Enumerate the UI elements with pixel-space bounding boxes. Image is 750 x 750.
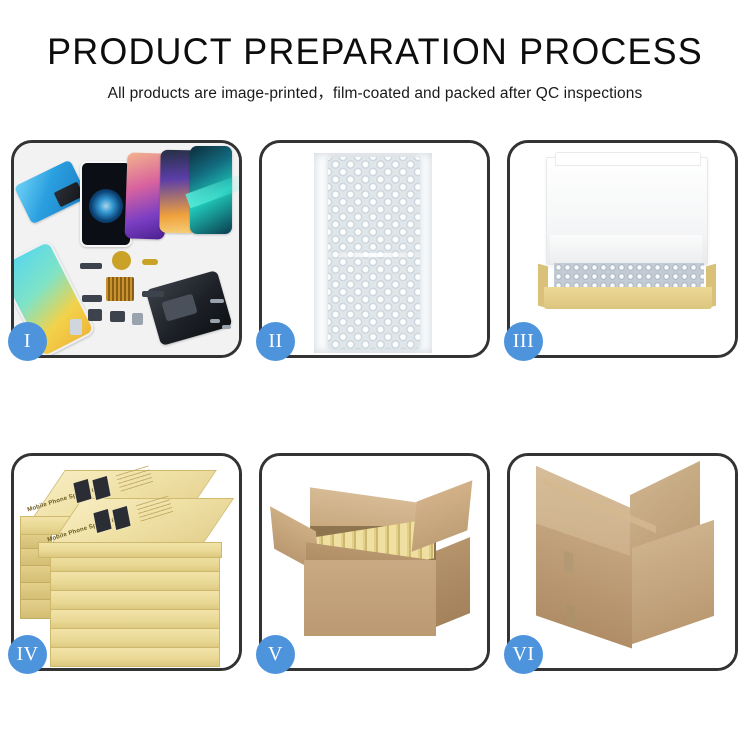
phone-screen-black-icon [80,161,132,247]
process-step-6[interactable]: VI [507,453,738,671]
step-3-image [510,143,735,355]
page-header: PRODUCT PREPARATION PROCESS All products… [0,0,750,105]
step-5-image [262,456,487,668]
step-2-image [262,143,487,355]
retail-box-face [38,542,222,558]
retail-box-edge [20,599,52,619]
step-5-badge: V [256,635,295,674]
tray-front-face [544,287,712,309]
step-2-badge: II [256,322,295,361]
retail-box-face [50,628,220,649]
step-4-badge: IV [8,635,47,674]
stacked-boxes-scene: Mobile Phone Spare Parts Mobile Phone Sp… [14,456,239,668]
carton-front-face [304,560,436,636]
component-flex-icon [142,259,158,265]
step-1-image [14,143,239,355]
process-step-grid: I II III [11,140,739,671]
component-coil-icon [112,251,131,270]
carton-flap-seam-bottom [566,604,575,625]
step-4-image: Mobile Phone Spare Parts Mobile Phone Sp… [14,456,239,668]
process-step-5[interactable]: V [259,453,490,671]
step-3-badge: III [504,322,543,361]
component-pin-icon [210,299,224,303]
component-screw-icon [210,319,220,323]
step-1-badge: I [8,322,47,361]
bubble-units-icon [554,263,704,289]
phone-screen-blue-icon [14,160,88,225]
component-grid-icon [106,277,134,301]
retail-box-face [50,590,220,611]
retail-box-face [50,571,220,592]
bubble-wrap-scene [262,143,487,355]
step-6-badge: VI [504,635,543,674]
page-subtitle: All products are image-printed，film-coat… [0,83,750,105]
bubble-seam [328,253,420,257]
process-step-4[interactable]: Mobile Phone Spare Parts Mobile Phone Sp… [11,453,242,671]
open-carton-scene [262,456,487,668]
retail-box-face [50,609,220,630]
component-cable-icon [82,295,102,302]
phone-parts-scene [14,143,239,355]
component-speaker-icon [132,313,143,325]
retail-box-face [50,647,220,667]
component-ribbon-icon [142,291,164,297]
sealed-carton-scene [510,456,735,668]
process-step-1[interactable]: I [11,140,242,358]
back-cover-dark-icon [145,270,232,346]
component-battery-icon [70,319,82,335]
process-step-2[interactable]: II [259,140,490,358]
component-screw2-icon [222,325,231,329]
phone-gradient-teal-icon [190,146,232,234]
step-6-image [510,456,735,668]
component-chip-icon [88,309,102,321]
foam-sheet-icon [550,235,702,263]
component-strip-icon [80,263,102,269]
process-step-3[interactable]: III [507,140,738,358]
open-white-box-scene [510,143,735,355]
component-module-icon [110,311,125,322]
page-title: PRODUCT PREPARATION PROCESS [11,30,739,74]
carton-flap-seam-top [564,550,573,573]
carton-side-face [436,537,470,627]
